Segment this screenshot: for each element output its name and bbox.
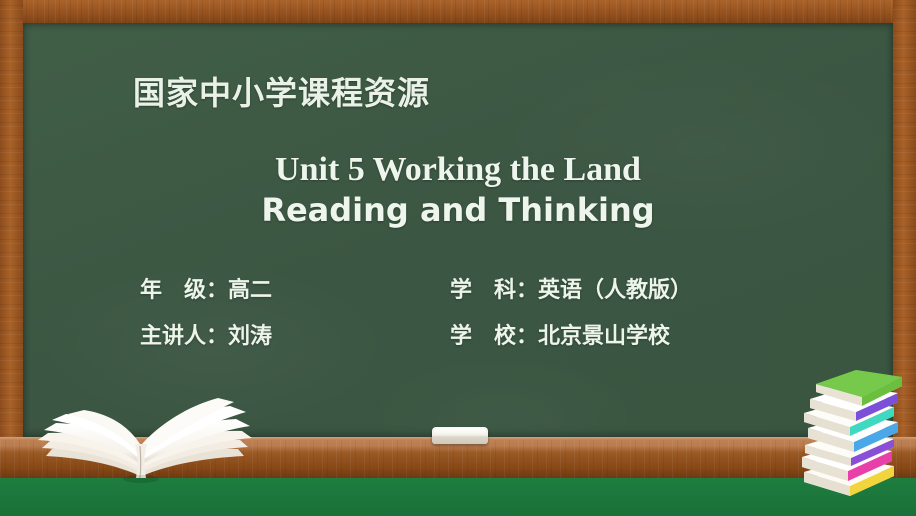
frame-top-plank <box>0 0 916 23</box>
metadata-subject: 学 科： 英语（人教版） <box>450 272 692 304</box>
stacked-books-icon <box>788 364 906 498</box>
lecturer-value: 刘涛 <box>228 318 272 350</box>
subject-label: 学 科： <box>450 272 538 304</box>
metadata-row: 主讲人： 刘涛 学 校： 北京景山学校 <box>140 318 760 350</box>
course-title: Unit 5 Working the Land Reading and Thin… <box>0 150 916 230</box>
metadata-grade: 年 级： 高二 <box>140 272 450 304</box>
lesson-metadata: 年 级： 高二 学 科： 英语（人教版） 主讲人： 刘涛 学 校： 北京景山学校 <box>140 272 760 364</box>
metadata-row: 年 级： 高二 学 科： 英语（人教版） <box>140 272 760 304</box>
school-label: 学 校： <box>450 318 538 350</box>
chalk-eraser-icon <box>432 427 488 444</box>
course-title-line-1: Unit 5 Working the Land <box>0 150 916 190</box>
course-title-line-2: Reading and Thinking <box>0 190 916 230</box>
metadata-lecturer: 主讲人： 刘涛 <box>140 318 450 350</box>
brand-heading: 国家中小学课程资源 <box>133 68 430 114</box>
metadata-school: 学 校： 北京景山学校 <box>450 318 670 350</box>
subject-value: 英语（人教版） <box>538 272 692 304</box>
lecturer-label: 主讲人： <box>140 318 228 350</box>
grade-value: 高二 <box>228 272 272 304</box>
school-value: 北京景山学校 <box>538 318 670 350</box>
frame-left-plank <box>0 0 23 478</box>
open-book-icon <box>22 392 260 484</box>
lesson-title-slide: 国家中小学课程资源 Unit 5 Working the Land Readin… <box>0 0 916 516</box>
grade-label: 年 级： <box>140 272 228 304</box>
